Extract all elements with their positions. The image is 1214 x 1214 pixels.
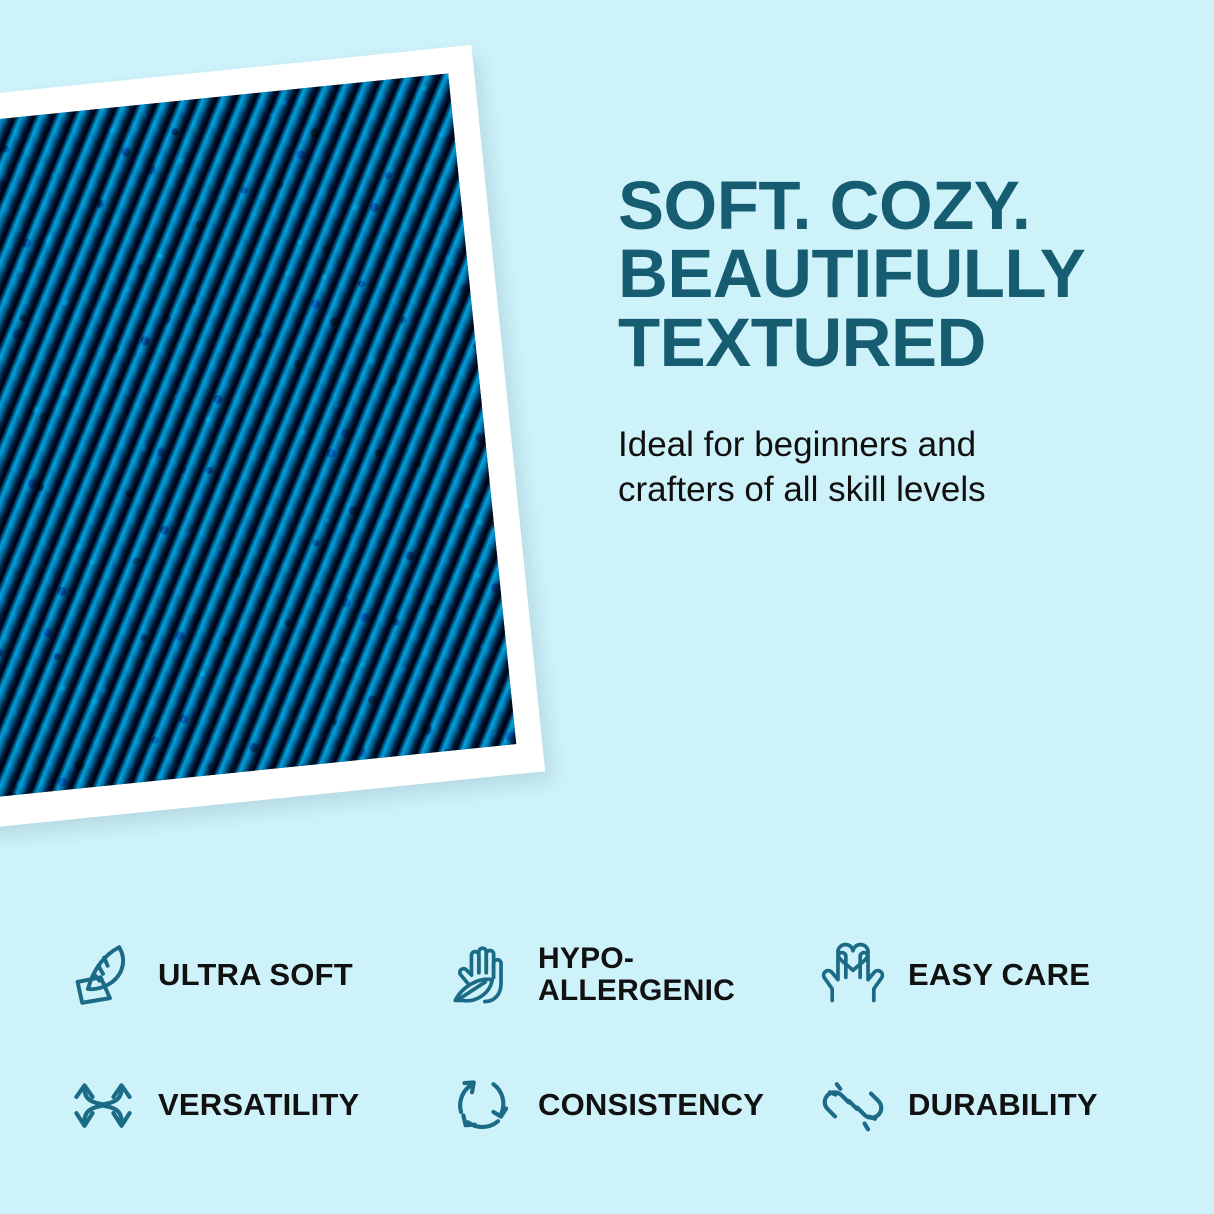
- feature-easy-care: EASY CARE: [816, 938, 1162, 1012]
- feature-versatility: VERSATILITY: [66, 1068, 446, 1142]
- feature-label: ULTRA SOFT: [158, 958, 353, 991]
- shuffle-arrows-icon: [66, 1068, 140, 1142]
- feature-durability: DURABILITY: [816, 1068, 1162, 1142]
- copy-block: SOFT. COZY. BEAUTIFULLY TEXTURED Ideal f…: [618, 172, 1178, 512]
- feature-label: HYPO- ALLERGENIC: [538, 943, 735, 1007]
- cycle-arrows-icon: [446, 1068, 520, 1142]
- feature-grid: ULTRA SOFT HYPO- ALLERGENIC: [66, 905, 1162, 1165]
- feature-label-line-2: ALLERGENIC: [538, 974, 735, 1007]
- feature-label-line-1: HYPO-: [538, 942, 634, 975]
- yarn-speckle-overlay: [0, 73, 516, 808]
- feature-ultra-soft: ULTRA SOFT: [66, 938, 446, 1012]
- subheadline: Ideal for beginners and crafters of all …: [618, 423, 1178, 513]
- feature-consistency: CONSISTENCY: [446, 1068, 816, 1142]
- feature-label: VERSATILITY: [158, 1088, 359, 1121]
- feature-label: CONSISTENCY: [538, 1088, 764, 1121]
- page-title: SOFT. COZY. BEAUTIFULLY TEXTURED: [618, 172, 1178, 377]
- subheadline-line-2: crafters of all skill levels: [618, 468, 1178, 513]
- photo-stage: [0, 78, 550, 818]
- feature-label: DURABILITY: [908, 1088, 1098, 1121]
- feature-label: EASY CARE: [908, 958, 1090, 991]
- headline-line-1: SOFT. COZY.: [618, 172, 1178, 240]
- hand-leaf-icon: [446, 938, 520, 1012]
- photo-card: [0, 45, 545, 841]
- knitted-yarn-swatch: [0, 73, 516, 808]
- chain-link-icon: [816, 1068, 890, 1142]
- hands-heart-icon: [816, 938, 890, 1012]
- headline-line-2: BEAUTIFULLY: [618, 240, 1178, 308]
- headline-line-3: TEXTURED: [618, 309, 1178, 377]
- feather-icon: [66, 938, 140, 1012]
- feature-hypo-allergenic: HYPO- ALLERGENIC: [446, 938, 816, 1012]
- subheadline-line-1: Ideal for beginners and: [618, 423, 1178, 468]
